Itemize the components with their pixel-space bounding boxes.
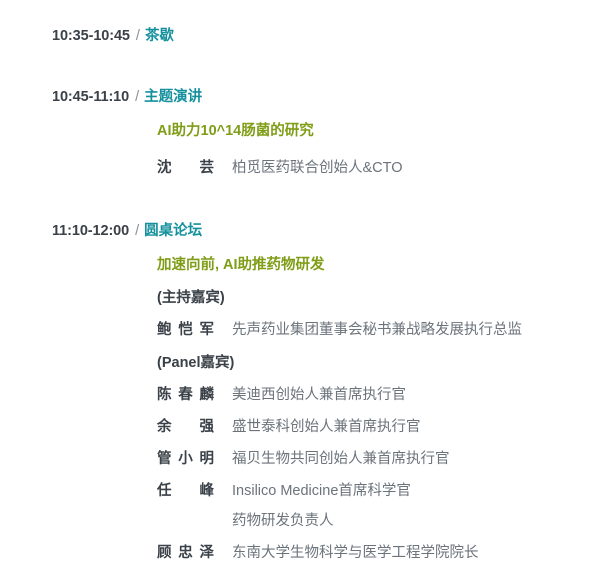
speaker-role: 柏觅医药联合创始人&CTO [232,156,403,177]
speaker-name: 余 强 [157,415,232,436]
speaker-role: 福贝生物共同创始人兼首席执行官 [232,447,450,468]
session-item: 10:35-10:45 / 茶歇 [0,24,600,45]
session-kind: 茶歇 [145,24,174,45]
session-topic: AI助力10^14肠菌的研究 [157,119,600,140]
speaker-row: 鲍恺军 先声药业集团董事会秘书兼战略发展执行总监 [157,318,600,339]
speaker-role: 先声药业集团董事会秘书兼战略发展执行总监 [232,318,522,339]
speaker-row: 沈 芸 柏觅医药联合创始人&CTO [157,156,600,177]
session-header: 10:35-10:45 / 茶歇 [52,24,600,45]
speaker-row: 管小明 福贝生物共同创始人兼首席执行官 [157,447,600,468]
session-header: 11:10-12:00 / 圆桌论坛 [52,219,600,240]
speaker-role: Insilico Medicine首席科学官 [232,479,411,500]
session-time: 10:45-11:10 [52,89,129,105]
host-group-label: (主持嘉宾) [157,286,600,307]
speaker-name: 管小明 [157,447,232,468]
speaker-role: 东南大学生物科学与医学工程学院院长 [232,541,479,562]
session-separator: / [135,89,139,105]
session-kind: 圆桌论坛 [144,219,202,240]
session-separator: / [135,223,139,239]
session-item: 10:45-11:10 / 主题演讲 AI助力10^14肠菌的研究 沈 芸 柏觅… [0,85,600,177]
session-header: 10:45-11:10 / 主题演讲 [52,85,600,106]
session-time: 10:35-10:45 [52,28,130,44]
panel-group-label: (Panel嘉宾) [157,351,600,372]
speaker-role: 盛世泰科创始人兼首席执行官 [232,415,421,436]
speaker-row: 顾忠泽 东南大学生物科学与医学工程学院院长 [157,541,600,562]
agenda-schedule: 10:35-10:45 / 茶歇 10:45-11:10 / 主题演讲 AI助力… [0,0,600,510]
session-separator: / [136,28,140,44]
speaker-row: 陈春麟 美迪西创始人兼首席执行官 [157,383,600,404]
session-item: 11:10-12:00 / 圆桌论坛 加速向前, AI助推药物研发 (主持嘉宾)… [0,219,600,562]
session-topic: 加速向前, AI助推药物研发 [157,253,600,274]
speaker-name: 陈春麟 [157,383,232,404]
speaker-role: 美迪西创始人兼首席执行官 [232,383,406,404]
session-time: 11:10-12:00 [52,223,129,239]
speaker-row: 余 强 盛世泰科创始人兼首席执行官 [157,415,600,436]
speaker-row: 任 峰 Insilico Medicine首席科学官 [157,479,600,500]
session-body: AI助力10^14肠菌的研究 沈 芸 柏觅医药联合创始人&CTO [52,119,600,177]
session-kind: 主题演讲 [144,85,202,106]
speaker-name: 任 峰 [157,479,232,500]
speaker-name: 沈 芸 [157,156,232,177]
speaker-name: 鲍恺军 [157,318,232,339]
session-body: 加速向前, AI助推药物研发 (主持嘉宾) 鲍恺军 先声药业集团董事会秘书兼战略… [52,253,600,562]
speaker-name: 顾忠泽 [157,541,232,562]
speaker-role-continuation: 药物研发负责人 [157,509,600,530]
